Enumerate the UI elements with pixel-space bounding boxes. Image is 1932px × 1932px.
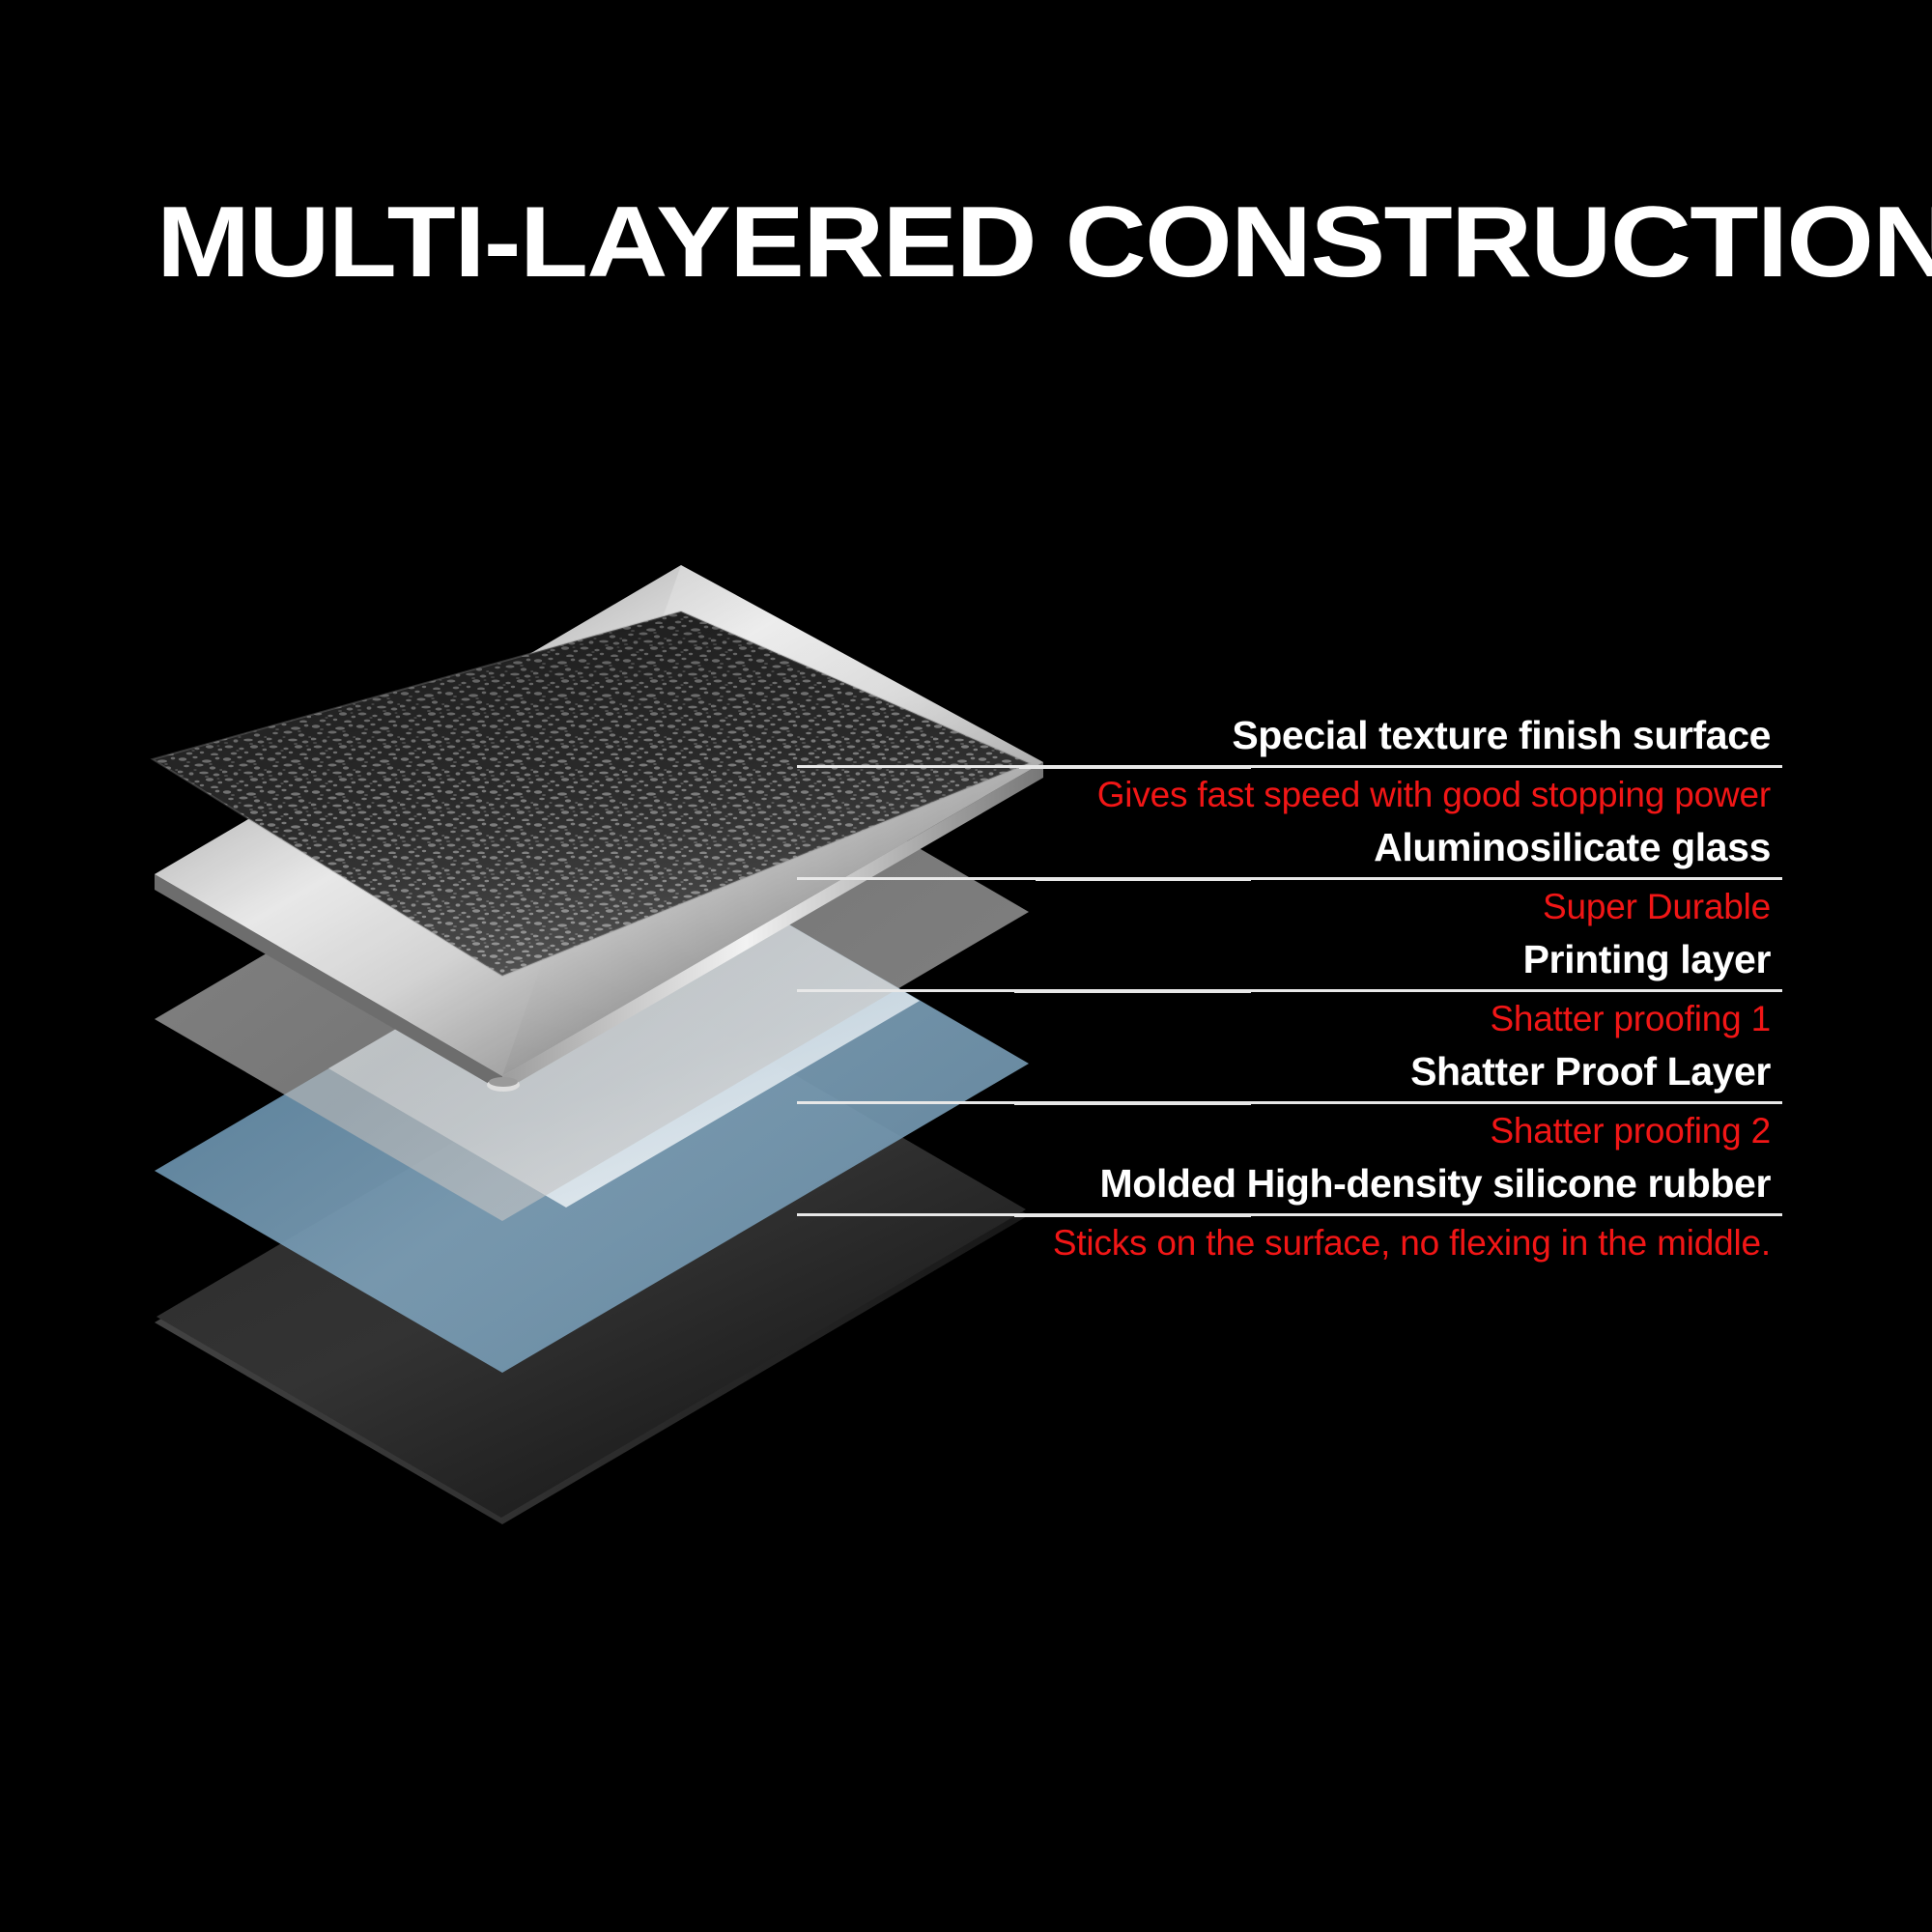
callout-subtitle: Shatter proofing 2 [797, 1112, 1782, 1150]
callout-special-texture-finish-surface: Special texture finish surface Gives fas… [797, 715, 1782, 814]
callout-aluminosilicate-glass: Aluminosilicate glass Super Durable [797, 827, 1782, 926]
infographic-canvas: MULTI-LAYERED CONSTRUCTION [0, 0, 1932, 1932]
callout-rule [797, 1213, 1782, 1216]
callout-printing-layer: Printing layer Shatter proofing 1 [797, 939, 1782, 1038]
callout-rule [797, 877, 1782, 880]
callout-shatter-proof-layer: Shatter Proof Layer Shatter proofing 2 [797, 1051, 1782, 1151]
callout-rule [797, 765, 1782, 768]
callout-title: Printing layer [797, 939, 1782, 980]
callout-title: Shatter Proof Layer [797, 1051, 1782, 1093]
callout-title: Special texture finish surface [797, 715, 1782, 756]
callout-rule [797, 989, 1782, 992]
callout-title: Molded High-density silicone rubber [797, 1163, 1782, 1205]
callout-subtitle: Sticks on the surface, no flexing in the… [797, 1224, 1782, 1262]
callout-molded-high-density-silicone-rubber: Molded High-density silicone rubber Stic… [797, 1163, 1782, 1263]
callout-subtitle: Super Durable [797, 888, 1782, 925]
callout-subtitle: Shatter proofing 1 [797, 1000, 1782, 1037]
callout-subtitle: Gives fast speed with good stopping powe… [797, 776, 1782, 813]
callout-title: Aluminosilicate glass [797, 827, 1782, 868]
callout-rule [797, 1101, 1782, 1104]
